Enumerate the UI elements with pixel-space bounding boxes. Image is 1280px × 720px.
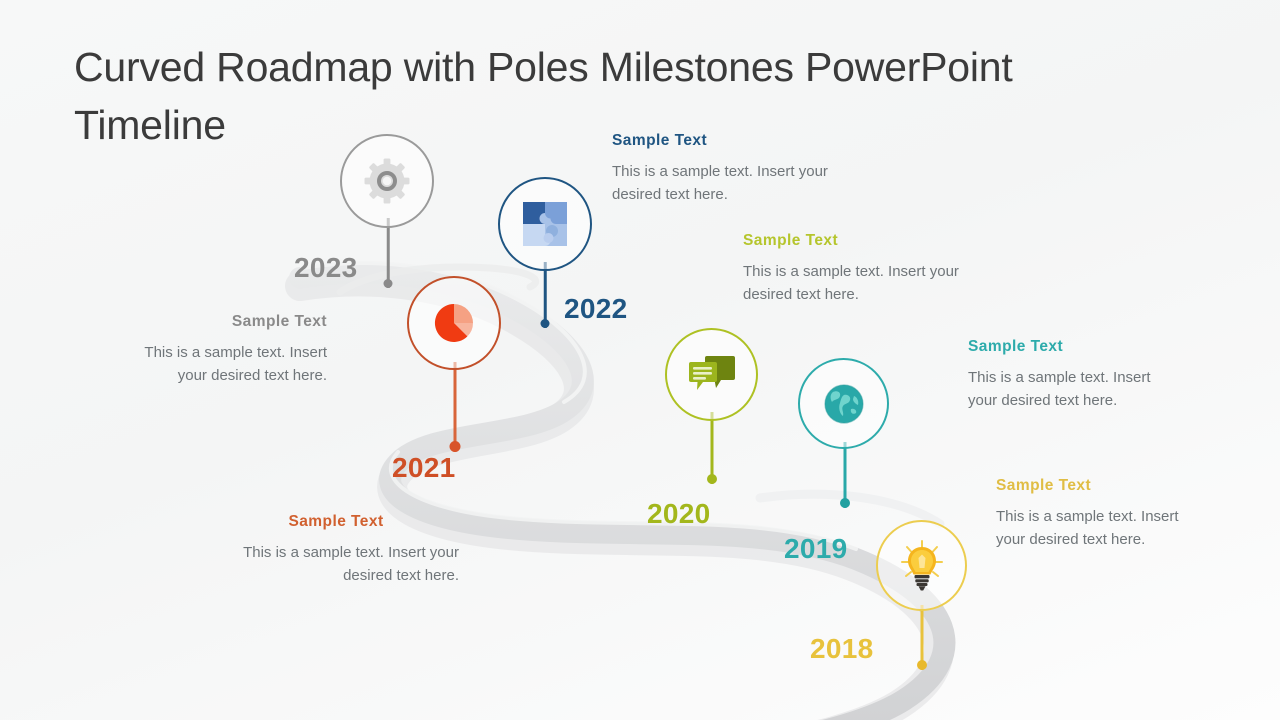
text-block-2023: Sample Text This is a sample text. Inser…	[125, 313, 327, 388]
heading-2023: Sample Text	[125, 313, 327, 331]
pole-2018	[912, 605, 932, 670]
heading-2018: Sample Text	[996, 477, 1196, 495]
puzzle-icon	[522, 201, 568, 247]
year-label-2018: 2018	[810, 633, 874, 665]
milestone-circle-2023[interactable]	[340, 134, 434, 228]
gear-icon	[362, 156, 412, 206]
year-label-2019: 2019	[784, 533, 848, 565]
pole-2023	[378, 218, 398, 288]
body-2020: This is a sample text. Insert your desir…	[743, 260, 988, 307]
milestone-circle-2022[interactable]	[498, 177, 592, 271]
pie-chart-icon	[428, 297, 480, 349]
text-block-2020: Sample Text This is a sample text. Inser…	[743, 232, 988, 307]
text-block-2018: Sample Text This is a sample text. Inser…	[996, 477, 1196, 552]
pole-dot-2023	[384, 279, 393, 288]
heading-2019: Sample Text	[968, 338, 1168, 356]
heading-2021: Sample Text	[213, 513, 459, 531]
body-2019: This is a sample text. Insert your desir…	[968, 366, 1168, 413]
text-block-2019: Sample Text This is a sample text. Inser…	[968, 338, 1168, 413]
pole-stem-2021	[454, 362, 457, 452]
pole-dot-2021	[450, 441, 461, 452]
pole-stem-2023	[387, 218, 390, 288]
year-label-2021: 2021	[392, 452, 456, 484]
milestone-circle-2019[interactable]	[798, 358, 889, 449]
body-2023: This is a sample text. Insert your desir…	[125, 341, 327, 388]
milestone-circle-2018[interactable]	[876, 520, 967, 611]
lightbulb-icon	[896, 538, 948, 594]
text-block-2022: Sample Text This is a sample text. Inser…	[612, 132, 852, 207]
pole-2021	[445, 362, 465, 452]
pole-dot-2022	[541, 319, 550, 328]
globe-icon	[823, 383, 865, 425]
body-2018: This is a sample text. Insert your desir…	[996, 505, 1196, 552]
heading-2022: Sample Text	[612, 132, 852, 150]
pole-2020	[702, 412, 722, 484]
year-label-2020: 2020	[647, 498, 711, 530]
chat-bubbles-icon	[687, 352, 737, 398]
year-label-2022: 2022	[564, 293, 628, 325]
year-label-2023: 2023	[294, 252, 358, 284]
pole-dot-2020	[707, 474, 717, 484]
pole-2022	[535, 262, 555, 328]
milestone-circle-2020[interactable]	[665, 328, 758, 421]
pole-2019	[835, 442, 855, 508]
pole-dot-2018	[917, 660, 927, 670]
pole-dot-2019	[840, 498, 850, 508]
body-2022: This is a sample text. Insert your desir…	[612, 160, 852, 207]
body-2021: This is a sample text. Insert your desir…	[213, 541, 459, 588]
milestone-circle-2021[interactable]	[407, 276, 501, 370]
text-block-2021: Sample Text This is a sample text. Inser…	[213, 513, 459, 588]
heading-2020: Sample Text	[743, 232, 988, 250]
slide-canvas: Curved Roadmap with Poles Milestones Pow…	[0, 0, 1280, 720]
